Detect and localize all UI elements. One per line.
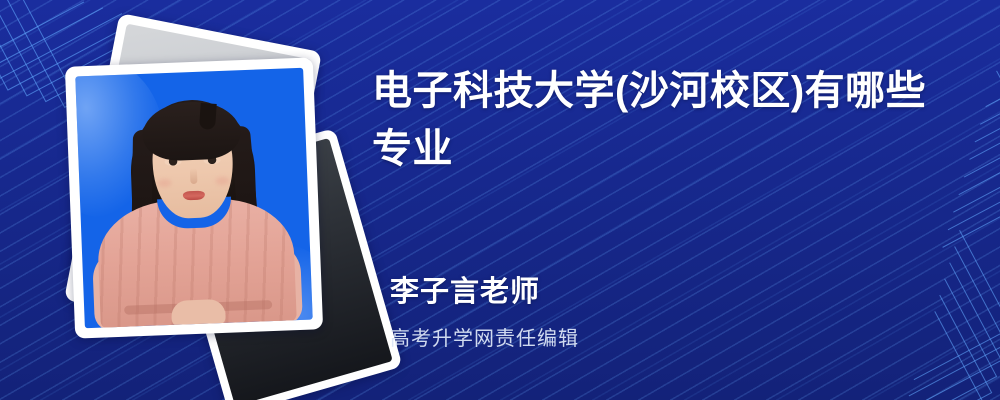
author-portrait-card <box>65 57 323 338</box>
author-byline: 李子言老师 高考升学网责任编辑 <box>390 268 579 351</box>
article-headline: 电子科技大学(沙河校区)有哪些专业 <box>372 62 952 179</box>
author-role: 高考升学网责任编辑 <box>390 322 579 351</box>
hair-part <box>199 103 217 130</box>
banner-text-column: 电子科技大学(沙河校区)有哪些专业 李子言老师 高考升学网责任编辑 <box>372 62 976 370</box>
nose <box>190 168 198 184</box>
hair-front <box>141 100 241 162</box>
hands <box>171 299 226 327</box>
author-name: 李子言老师 <box>390 268 579 310</box>
portrait-figure <box>75 68 313 329</box>
article-cover-banner: 电子科技大学(沙河校区)有哪些专业 李子言老师 高考升学网责任编辑 <box>0 0 1000 400</box>
author-portrait-photo <box>75 68 313 329</box>
author-photo-card-stack <box>52 28 352 358</box>
